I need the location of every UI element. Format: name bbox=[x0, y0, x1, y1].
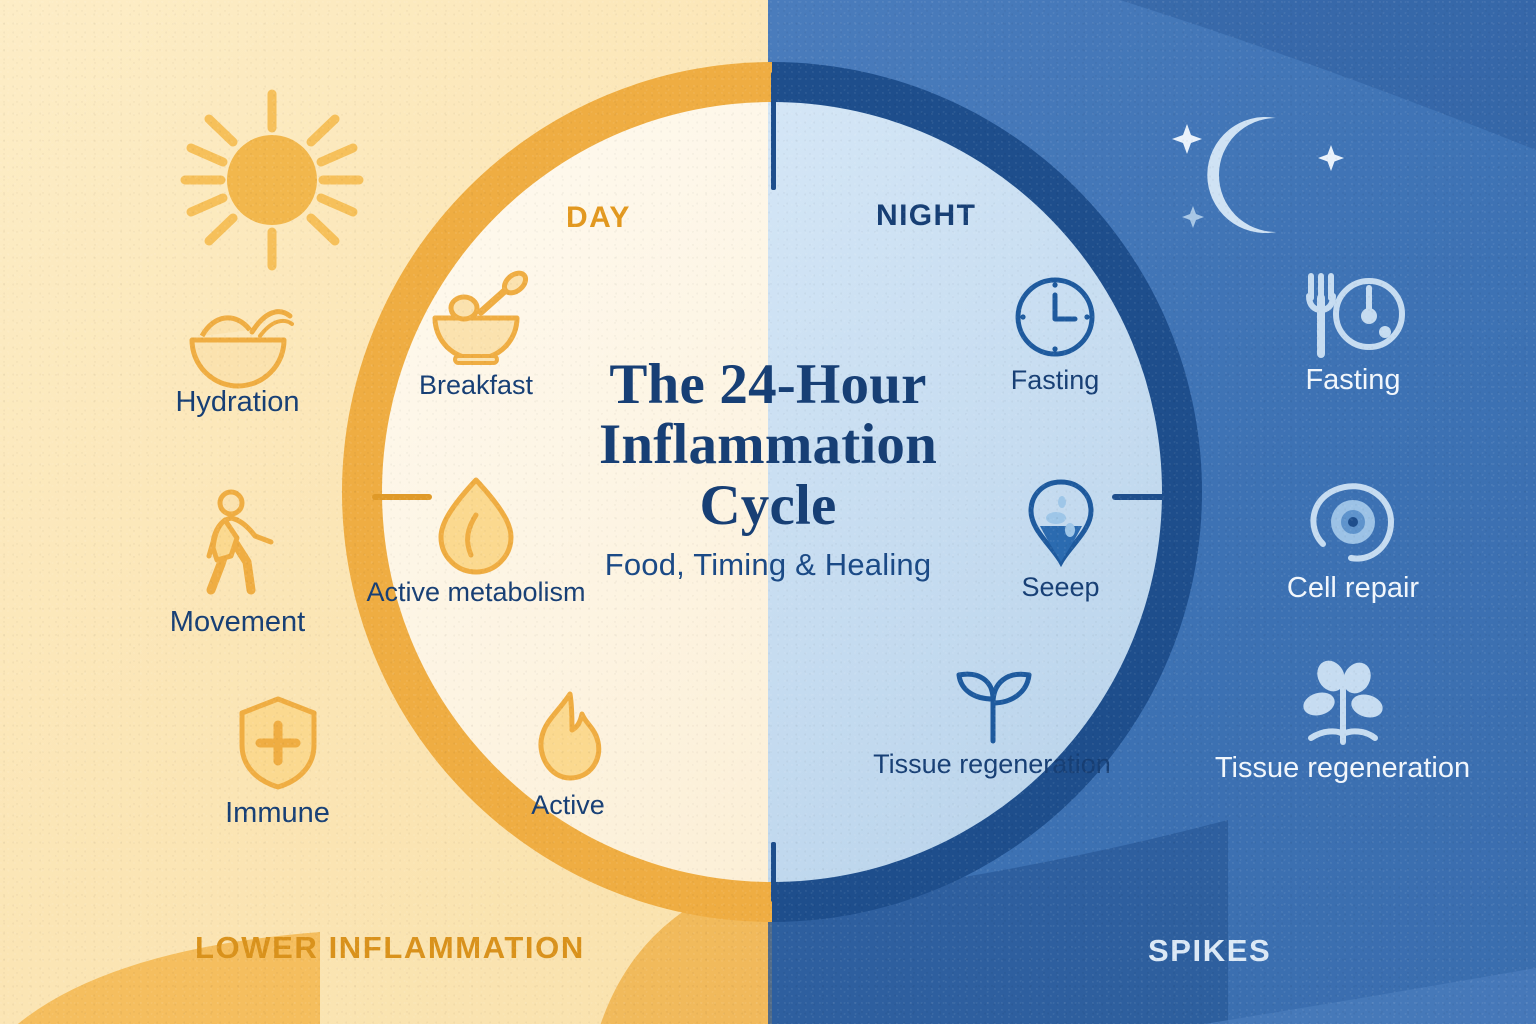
shield-plus-icon bbox=[236, 695, 320, 791]
inner-item-label: Tissue regeneration bbox=[872, 749, 1112, 779]
inner-item-label: Seeep bbox=[978, 572, 1143, 602]
infographic-canvas: DAY NIGHT The 24-Hour Inflamma bbox=[0, 0, 1536, 1024]
page-subtitle: Food, Timing & Healing bbox=[543, 547, 993, 583]
outer-item-label: Tissue regeneration bbox=[1210, 752, 1475, 784]
inner-item-active: Active bbox=[478, 690, 658, 820]
inner-item-tissue-regeneration: Tissue regeneration bbox=[872, 667, 1112, 779]
page-title: The 24-Hour Inflammation Cycle bbox=[543, 355, 993, 536]
outer-item-label: Cell repair bbox=[1228, 572, 1478, 604]
outer-item-fasting: Fasting bbox=[1228, 272, 1478, 396]
night-label: NIGHT bbox=[876, 199, 976, 233]
sprout-icon bbox=[949, 667, 1035, 743]
divider-stub-bottom bbox=[771, 842, 776, 902]
star-icon bbox=[1318, 145, 1344, 171]
outer-item-label: Fasting bbox=[1228, 364, 1478, 396]
outer-item-immune: Immune bbox=[160, 695, 395, 829]
sprout-filled-icon bbox=[1297, 660, 1389, 746]
leaf-drop-icon bbox=[437, 475, 515, 571]
outer-item-label: Movement bbox=[120, 606, 355, 638]
center-title-block: The 24-Hour Inflammation Cycle Food, Tim… bbox=[543, 355, 993, 583]
star-icon bbox=[1172, 124, 1202, 154]
cell-spiral-icon bbox=[1305, 480, 1401, 566]
walking-person-icon bbox=[197, 490, 279, 600]
sun-icon bbox=[163, 86, 381, 274]
flame-icon bbox=[528, 690, 608, 784]
star-icon bbox=[1182, 206, 1204, 228]
outer-item-movement: Movement bbox=[120, 490, 355, 638]
outer-item-hydration: Hydration bbox=[120, 300, 355, 418]
clock-icon bbox=[1013, 275, 1097, 359]
bowl-icon bbox=[180, 300, 296, 380]
inner-item-label: Active bbox=[478, 790, 658, 820]
fork-plate-clock-icon bbox=[1299, 272, 1407, 358]
inner-item-sleep: Seeep bbox=[978, 478, 1143, 602]
sleep-pin-icon bbox=[1028, 478, 1094, 566]
divider-stub-top bbox=[771, 72, 776, 190]
outer-item-label: Hydration bbox=[120, 386, 355, 418]
outer-item-cell-repair: Cell repair bbox=[1228, 480, 1478, 604]
bowl-spoon-icon bbox=[417, 272, 535, 364]
outer-item-label: Immune bbox=[160, 797, 395, 829]
banner-spikes: SPIKES bbox=[1148, 933, 1271, 969]
banner-lower-inflammation: LOWER INFLAMMATION bbox=[195, 930, 585, 966]
outer-item-tissue-regeneration: Tissue regeneration bbox=[1210, 660, 1475, 784]
day-label: DAY bbox=[566, 201, 631, 235]
